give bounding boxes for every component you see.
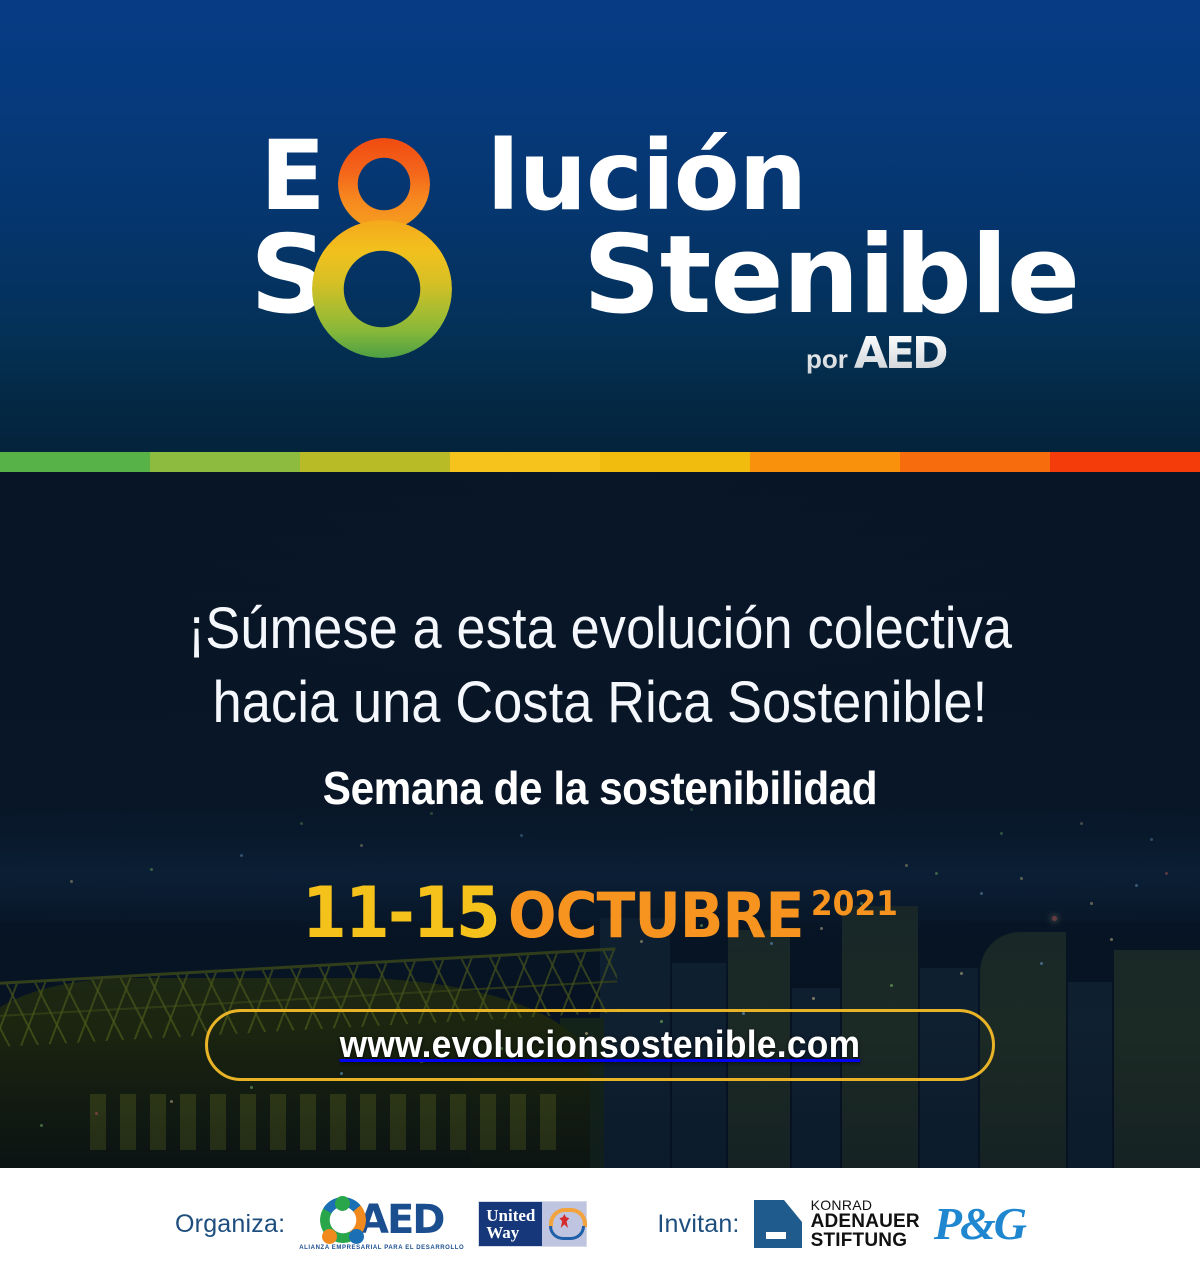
united-way-line-2: Way: [486, 1224, 535, 1241]
headline-line-1: ¡Súmese a esta evolución colectiva: [60, 592, 1140, 666]
main-copy: ¡Súmese a esta evolución colectiva hacia…: [0, 472, 1200, 948]
united-way-hand-icon: [542, 1202, 586, 1246]
header-band: E lución S Stenible por AED: [0, 0, 1200, 452]
aed-logo[interactable]: AED ALIANZA EMPRESARIAL PARA EL DESARROL…: [299, 1197, 464, 1251]
colorbar-seg-3: [300, 452, 450, 472]
organiza-label: Organiza:: [175, 1210, 285, 1239]
sponsor-footer: Organiza: AED ALIANZA EMPRESARIAL PARA E…: [0, 1168, 1200, 1280]
logo-o-bottom-icon: [312, 220, 452, 358]
united-way-logo[interactable]: United Way: [478, 1201, 587, 1247]
date-range: 11-15: [302, 878, 499, 948]
kas-a-icon: [754, 1200, 802, 1248]
aed-swirl-icon: [320, 1197, 366, 1243]
aed-wordmark: AED: [358, 1200, 443, 1240]
colorbar-seg-8: [1050, 452, 1200, 472]
kas-line-1: KONRAD: [811, 1198, 920, 1212]
headline: ¡Súmese a esta evolución colectiva hacia…: [60, 472, 1140, 740]
website-url-label: www.evolucionsostenible.com: [340, 1024, 861, 1067]
subheadline: Semana de la sostenibilidad: [48, 740, 1152, 814]
date-year: 2021: [811, 887, 898, 921]
united-way-line-1: United: [486, 1207, 535, 1224]
colorbar-seg-7: [900, 452, 1050, 472]
colorbar-seg-6: [750, 452, 900, 472]
colorbar-seg-1: [0, 452, 150, 472]
headline-line-2: hacia una Costa Rica Sostenible!: [60, 666, 1140, 740]
byline-prefix: por: [806, 346, 848, 376]
pg-logo[interactable]: P&G: [934, 1201, 1025, 1247]
main-section: ¡Súmese a esta evolución colectiva hacia…: [0, 472, 1200, 1168]
konrad-adenauer-stiftung-logo[interactable]: KONRAD ADENAUER STIFTUNG: [754, 1198, 920, 1250]
evolucion-sostenible-logo: E lución S Stenible: [250, 128, 970, 388]
organiza-group: Organiza: AED ALIANZA EMPRESARIAL PARA E…: [175, 1197, 587, 1251]
colorbar-seg-5: [600, 452, 750, 472]
colorbar-seg-2: [150, 452, 300, 472]
colorbar-seg-4: [450, 452, 600, 472]
logo-byline: por AED: [806, 332, 946, 376]
event-date: 11-15 OCTUBRE 2021: [48, 814, 1152, 948]
invitan-group: Invitan: KONRAD ADENAUER STIFTUNG P&G: [657, 1198, 1025, 1250]
invitan-label: Invitan:: [657, 1210, 739, 1239]
aed-tagline: ALIANZA EMPRESARIAL PARA EL DESARROLLO: [299, 1245, 464, 1251]
kas-line-3: STIFTUNG: [811, 1231, 920, 1250]
website-url-button[interactable]: www.evolucionsostenible.com: [205, 1009, 995, 1081]
byline-aed: AED: [854, 332, 946, 376]
kas-line-2: ADENAUER: [811, 1212, 920, 1231]
logo-o-top-icon: [338, 138, 430, 230]
gradient-color-bar: [0, 452, 1200, 472]
poster-canvas: E lución S Stenible por AED: [0, 0, 1200, 1280]
date-month: OCTUBRE: [508, 885, 804, 947]
